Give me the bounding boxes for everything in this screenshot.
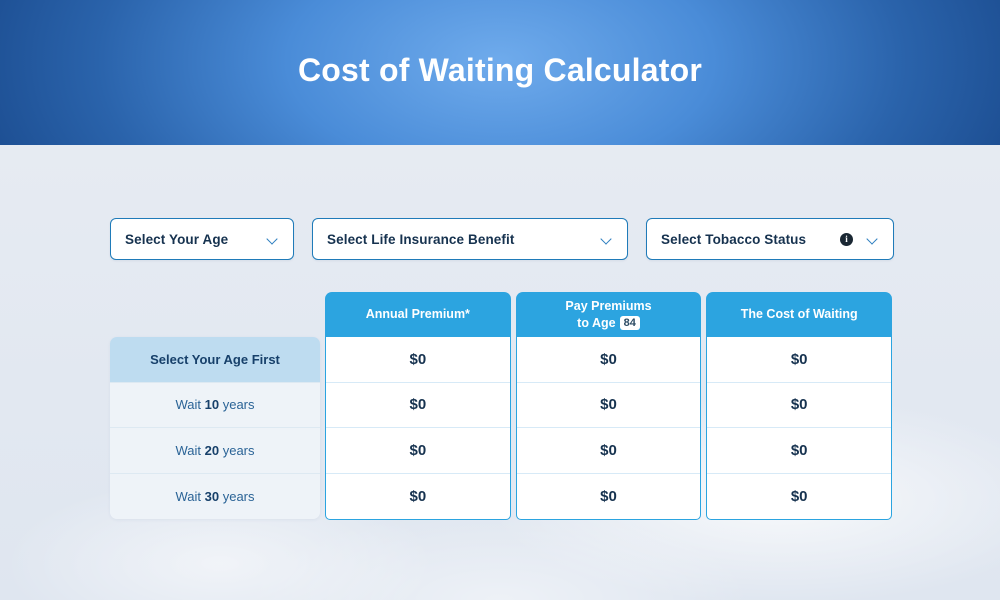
select-your-age-dropdown[interactable]: Select Your Age (110, 218, 294, 260)
table-cell: $0 (707, 474, 891, 520)
table-cell: $0 (707, 428, 891, 474)
select-tobacco-status-dropdown[interactable]: Select Tobacco Status i (646, 218, 894, 260)
table-cell: $0 (707, 337, 891, 383)
age-value-chip: 84 (620, 316, 640, 330)
label-number: 20 (205, 443, 219, 458)
page-title: Cost of Waiting Calculator (298, 54, 702, 86)
label-text: Select Your Age First (150, 352, 280, 367)
label-suffix: years (223, 489, 255, 504)
select-life-insurance-benefit-dropdown[interactable]: Select Life Insurance Benefit (312, 218, 628, 260)
label-suffix: years (223, 443, 255, 458)
label-number: 10 (205, 397, 219, 412)
main-content: Select Your Age Select Life Insurance Be… (0, 145, 1000, 600)
table-row-label-2: Wait 20 years (110, 428, 320, 474)
column-header-block: Pay Premiums to Age84 (565, 298, 651, 332)
select-your-age-label: Select Your Age (125, 232, 228, 247)
column-header-line2: to Age (577, 316, 615, 330)
table-label-column: Select Your Age First Wait 10 years Wait… (110, 337, 320, 519)
label-prefix: Wait (175, 397, 201, 412)
table-column-pay-premiums: Pay Premiums to Age84 $0 $0 $0 $0 (516, 292, 702, 520)
table-cell: $0 (326, 383, 510, 429)
column-header-line1: Pay Premiums (565, 298, 651, 315)
table-cell: $0 (326, 474, 510, 520)
label-suffix: years (223, 397, 255, 412)
column-header-text: Annual Premium* (366, 306, 470, 323)
table-row-label-1: Wait 10 years (110, 383, 320, 429)
column-header-text: The Cost of Waiting (741, 306, 858, 323)
column-header-cost-of-waiting: The Cost of Waiting (706, 292, 892, 337)
column-header-pay-premiums: Pay Premiums to Age84 (516, 292, 702, 337)
table-cell: $0 (517, 428, 701, 474)
column-body-pay-premiums: $0 $0 $0 $0 (516, 337, 702, 520)
table-row-label-3: Wait 30 years (110, 474, 320, 520)
table-cell: $0 (517, 474, 701, 520)
column-header-annual-premium: Annual Premium* (325, 292, 511, 337)
label-prefix: Wait (175, 489, 201, 504)
table-cell: $0 (517, 337, 701, 383)
table-column-cost-of-waiting: The Cost of Waiting $0 $0 $0 $0 (706, 292, 892, 520)
table-cell: $0 (707, 383, 891, 429)
column-body-annual-premium: $0 $0 $0 $0 (325, 337, 511, 520)
table-row-label-0: Select Your Age First (110, 337, 320, 383)
label-number: 30 (205, 489, 219, 504)
label-prefix: Wait (175, 443, 201, 458)
table-cell: $0 (326, 337, 510, 383)
chevron-down-icon[interactable] (267, 233, 279, 245)
select-tobacco-status-label: Select Tobacco Status (661, 232, 806, 247)
chevron-down-icon[interactable] (867, 233, 879, 245)
info-icon[interactable]: i (840, 233, 853, 246)
selector-row: Select Your Age Select Life Insurance Be… (110, 218, 894, 260)
column-body-cost-of-waiting: $0 $0 $0 $0 (706, 337, 892, 520)
page-header-banner: Cost of Waiting Calculator (0, 0, 1000, 145)
table-column-annual-premium: Annual Premium* $0 $0 $0 $0 (325, 292, 511, 520)
select-life-insurance-benefit-label: Select Life Insurance Benefit (327, 232, 514, 247)
table-cell: $0 (517, 383, 701, 429)
chevron-down-icon[interactable] (601, 233, 613, 245)
cost-of-waiting-table: Select Your Age First Wait 10 years Wait… (110, 292, 892, 520)
table-cell: $0 (326, 428, 510, 474)
